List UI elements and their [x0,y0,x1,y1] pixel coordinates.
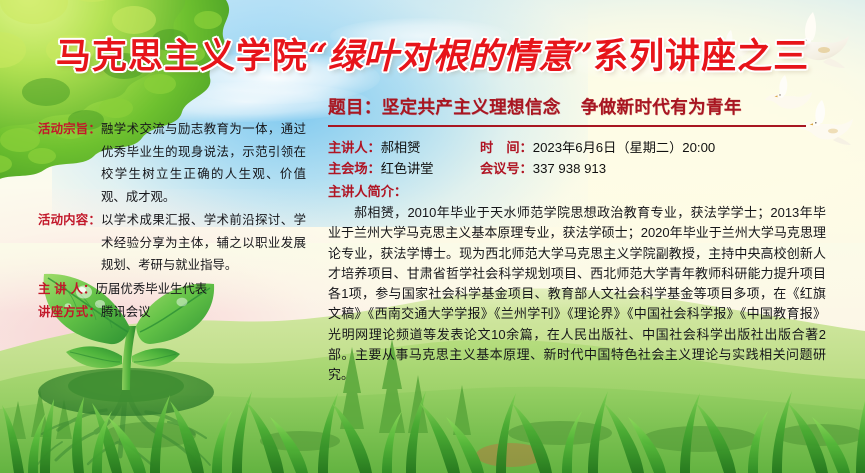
meta-key-venue: 主会场： [328,158,381,179]
activity-info-column: 活动宗旨： 融学术交流与励志教育为一体，通过优秀毕业生的现身说法，示范引领在校学… [38,118,306,325]
meta-key-time: 时 间： [480,137,533,158]
info-label-format: 讲座方式： [38,301,101,324]
banner-title-suffix: 系列讲座之三 [593,37,809,76]
meta-value-speaker: 郝相赟 [381,137,421,158]
info-row-format: 讲座方式： 腾讯会议 [38,301,306,324]
meta-cell-speaker: 主讲人： 郝相赟 [328,137,480,158]
banner-title-quoted: 绿叶对根的情意 [328,36,573,77]
meta-cell-meeting-id: 会议号： 337 938 913 [480,158,606,179]
meta-row-speaker-time: 主讲人： 郝相赟 时 间： 2023年6月6日（星期二）20:00 [328,137,828,158]
lecture-poster: 马克思主义学院“绿叶对根的情意”系列讲座之三 活动宗旨： 融学术交流与励志教育为… [0,0,865,473]
info-value-content: 以学术成果汇报、学术前沿探讨、学术经验分享为主体，辅之以职业发展规划、考研与就业… [101,209,306,277]
banner-title-quote-open: “ [308,36,328,77]
info-row-speaker: 主 讲 人： 历届优秀毕业生代表 [38,278,306,301]
info-label-speaker: 主 讲 人： [38,278,96,301]
speaker-bio-text: 郝相赟，2010年毕业于天水师范学院思想政治教育专业，获法学学士；2013年毕业… [328,203,826,386]
info-row-content: 活动内容： 以学术成果汇报、学术前沿探讨、学术经验分享为主体，辅之以职业发展规划… [38,209,306,277]
meta-value-time: 2023年6月6日（星期二）20:00 [533,137,716,158]
lecture-topic-heading: 题目：坚定共产主义理想信念争做新时代有为青年 [328,94,806,127]
info-value-speaker: 历届优秀毕业生代表 [96,278,306,301]
banner-title: 马克思主义学院“绿叶对根的情意”系列讲座之三 [0,28,865,79]
info-label-purpose: 活动宗旨： [38,118,101,141]
meta-value-venue: 红色讲堂 [381,158,434,179]
info-value-purpose: 融学术交流与励志教育为一体，通过优秀毕业生的现身说法，示范引领在校学生树立生正确… [101,118,306,208]
meta-cell-venue: 主会场： 红色讲堂 [328,158,480,179]
info-value-format: 腾讯会议 [101,301,306,324]
info-row-purpose: 活动宗旨： 融学术交流与励志教育为一体，通过优秀毕业生的现身说法，示范引领在校学… [38,118,306,208]
meta-cell-time: 时 间： 2023年6月6日（星期二）20:00 [480,137,715,158]
topic-label: 题目： [328,97,382,117]
banner-title-prefix: 马克思主义学院 [56,37,308,76]
banner-title-quote-close: ” [573,36,593,77]
info-label-content: 活动内容： [38,209,101,232]
meta-key-meeting-id: 会议号： [480,158,533,179]
meta-value-meeting-id: 337 938 913 [533,158,606,179]
lecture-details-column: 题目：坚定共产主义理想信念争做新时代有为青年 主讲人： 郝相赟 时 间： 202… [328,94,828,386]
poster-content: 马克思主义学院“绿叶对根的情意”系列讲座之三 活动宗旨： 融学术交流与励志教育为… [0,0,865,473]
topic-part-one: 坚定共产主义理想信念 [382,97,561,117]
meta-row-venue-meeting: 主会场： 红色讲堂 会议号： 337 938 913 [328,158,828,179]
lecture-meta-grid: 主讲人： 郝相赟 时 间： 2023年6月6日（星期二）20:00 主会场： 红… [328,137,828,179]
speaker-bio-heading: 主讲人简介： [328,181,828,202]
topic-part-two: 争做新时代有为青年 [581,97,742,117]
meta-key-speaker: 主讲人： [328,137,381,158]
